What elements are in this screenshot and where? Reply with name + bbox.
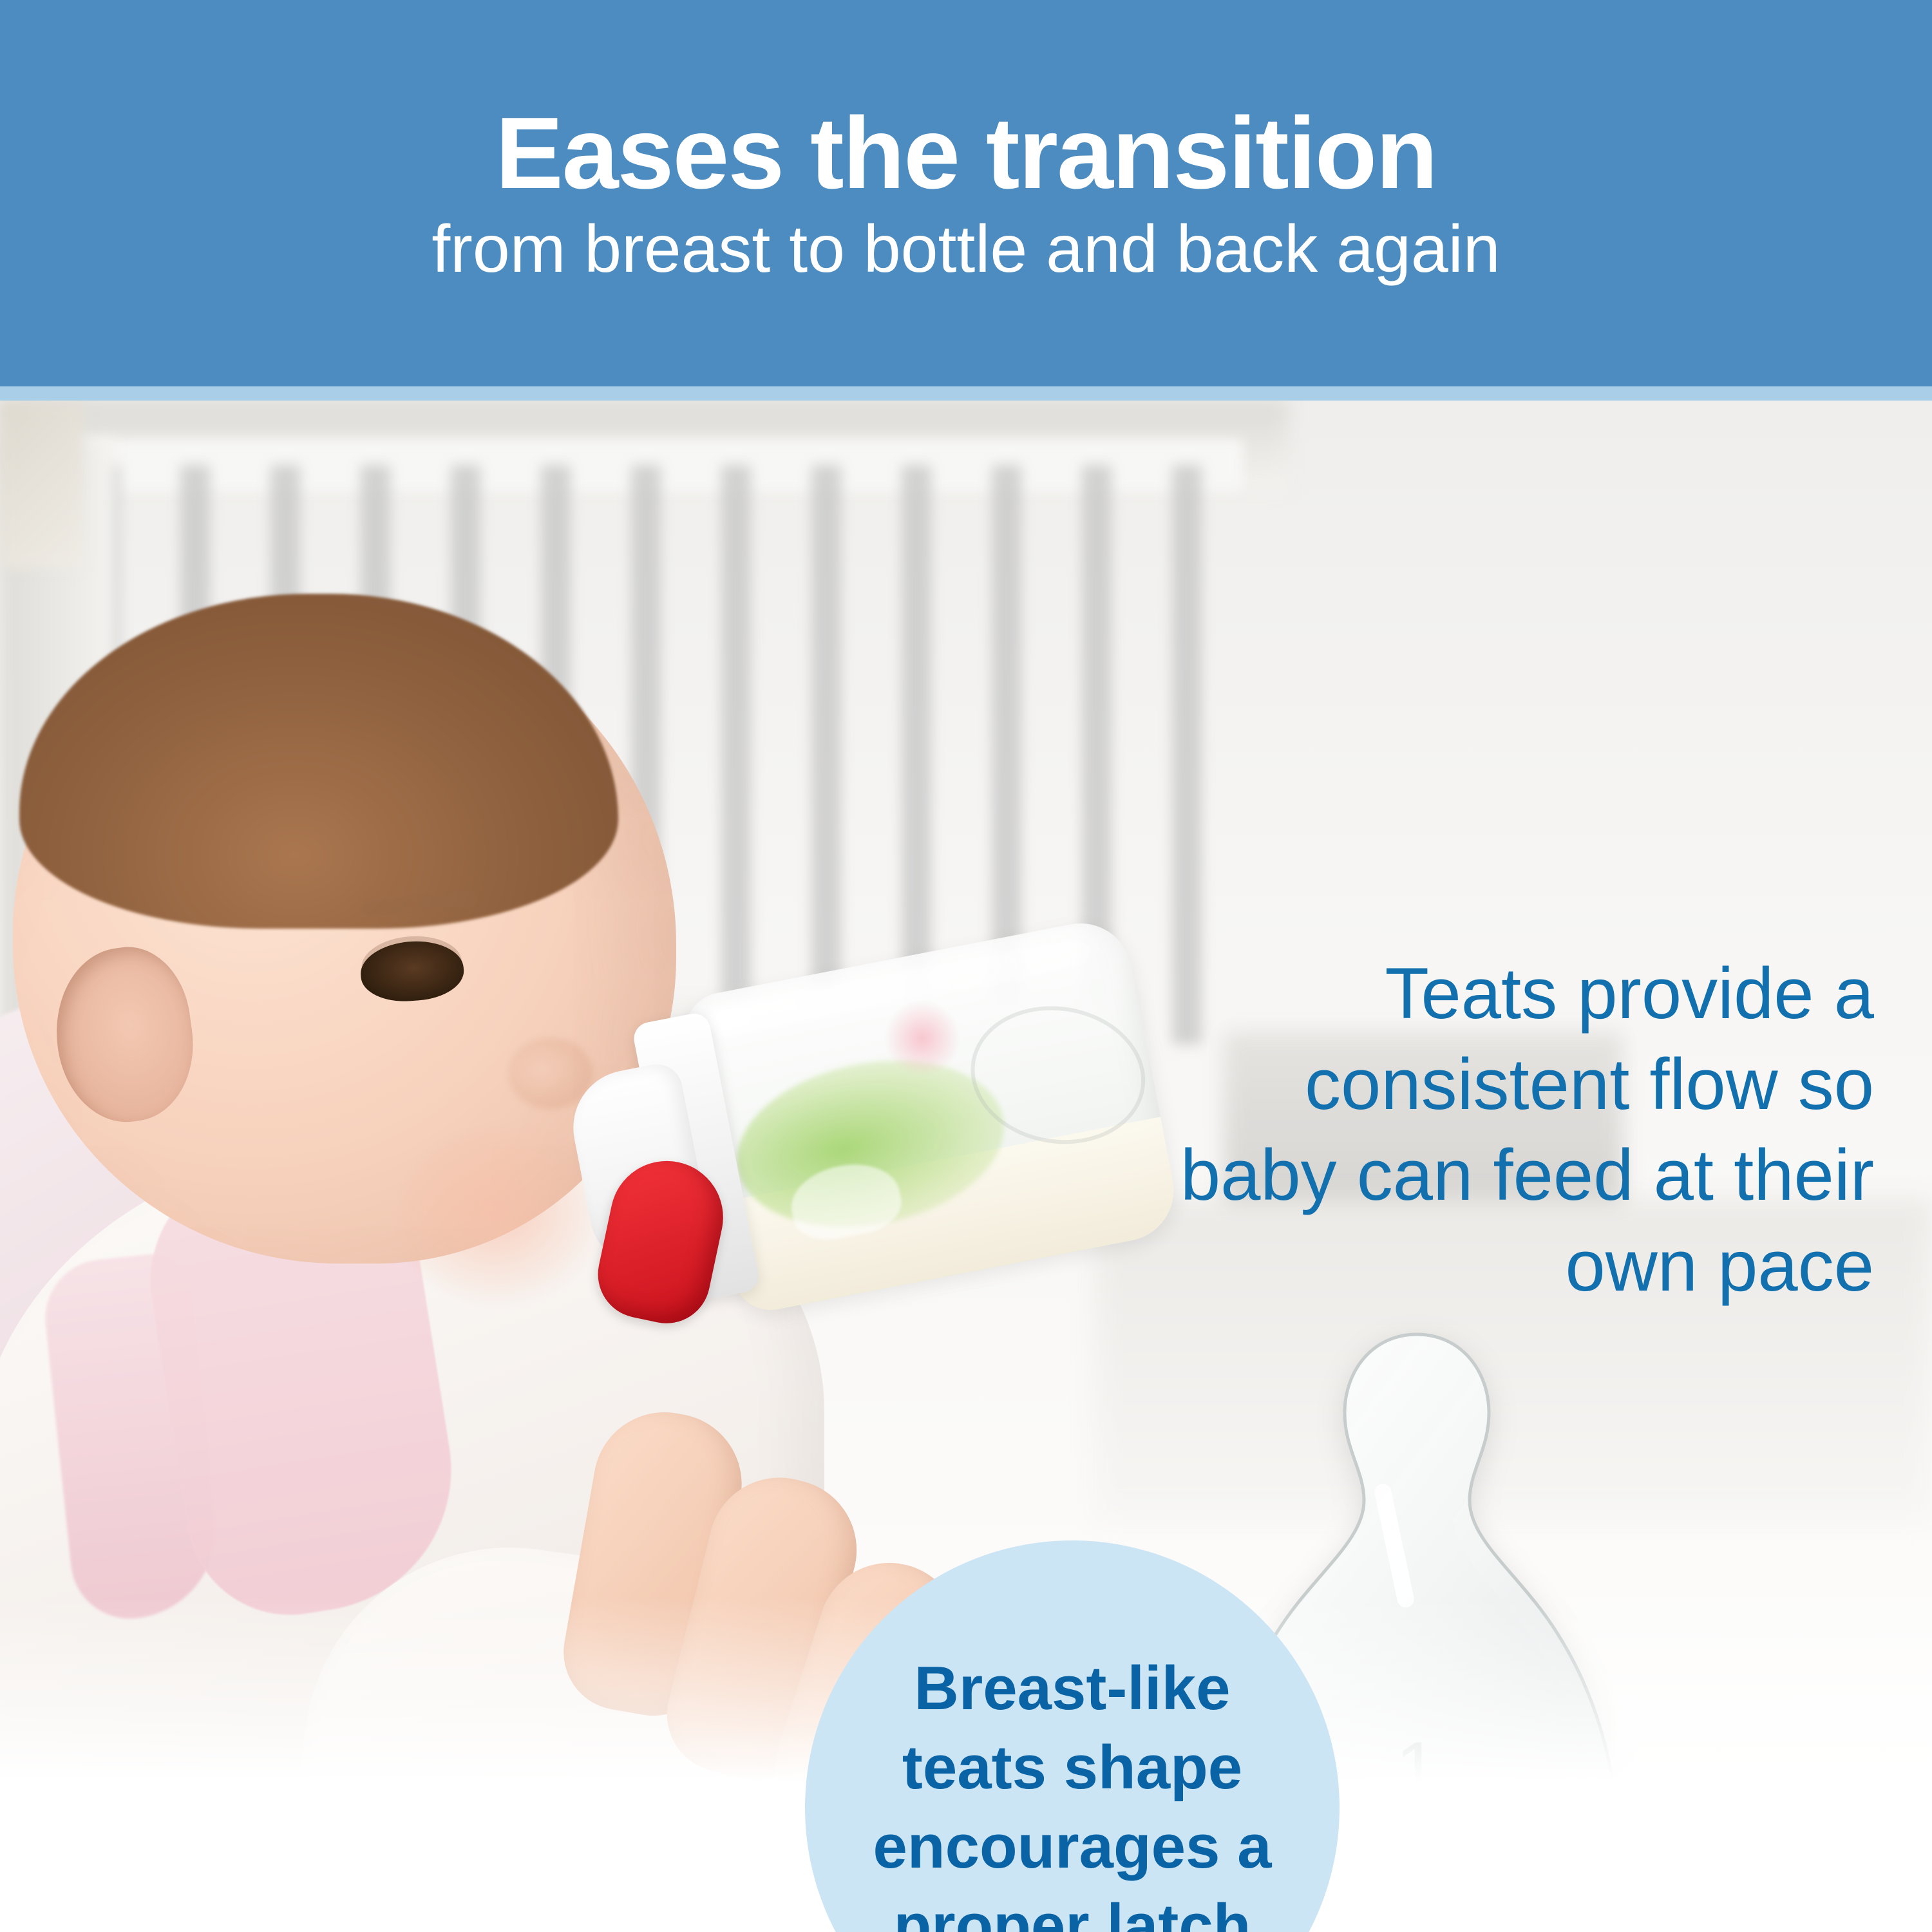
product-photo: 1 1 Teats provide a consistent flow so b…: [0, 401, 1932, 1932]
subheadline: from breast to bottle and back again: [431, 213, 1500, 286]
header-banner: Eases the transition from breast to bott…: [0, 0, 1932, 386]
header-underline-bar: [0, 386, 1932, 401]
callout-text: Breast-like teats shape encourages a pro…: [805, 1649, 1340, 1932]
advertisement-image: Eases the transition from breast to bott…: [0, 0, 1932, 1932]
baby-hair: [19, 594, 618, 929]
body-copy-text: Teats provide a consistent flow so baby …: [1146, 948, 1874, 1311]
headline: Eases the transition: [495, 100, 1436, 207]
